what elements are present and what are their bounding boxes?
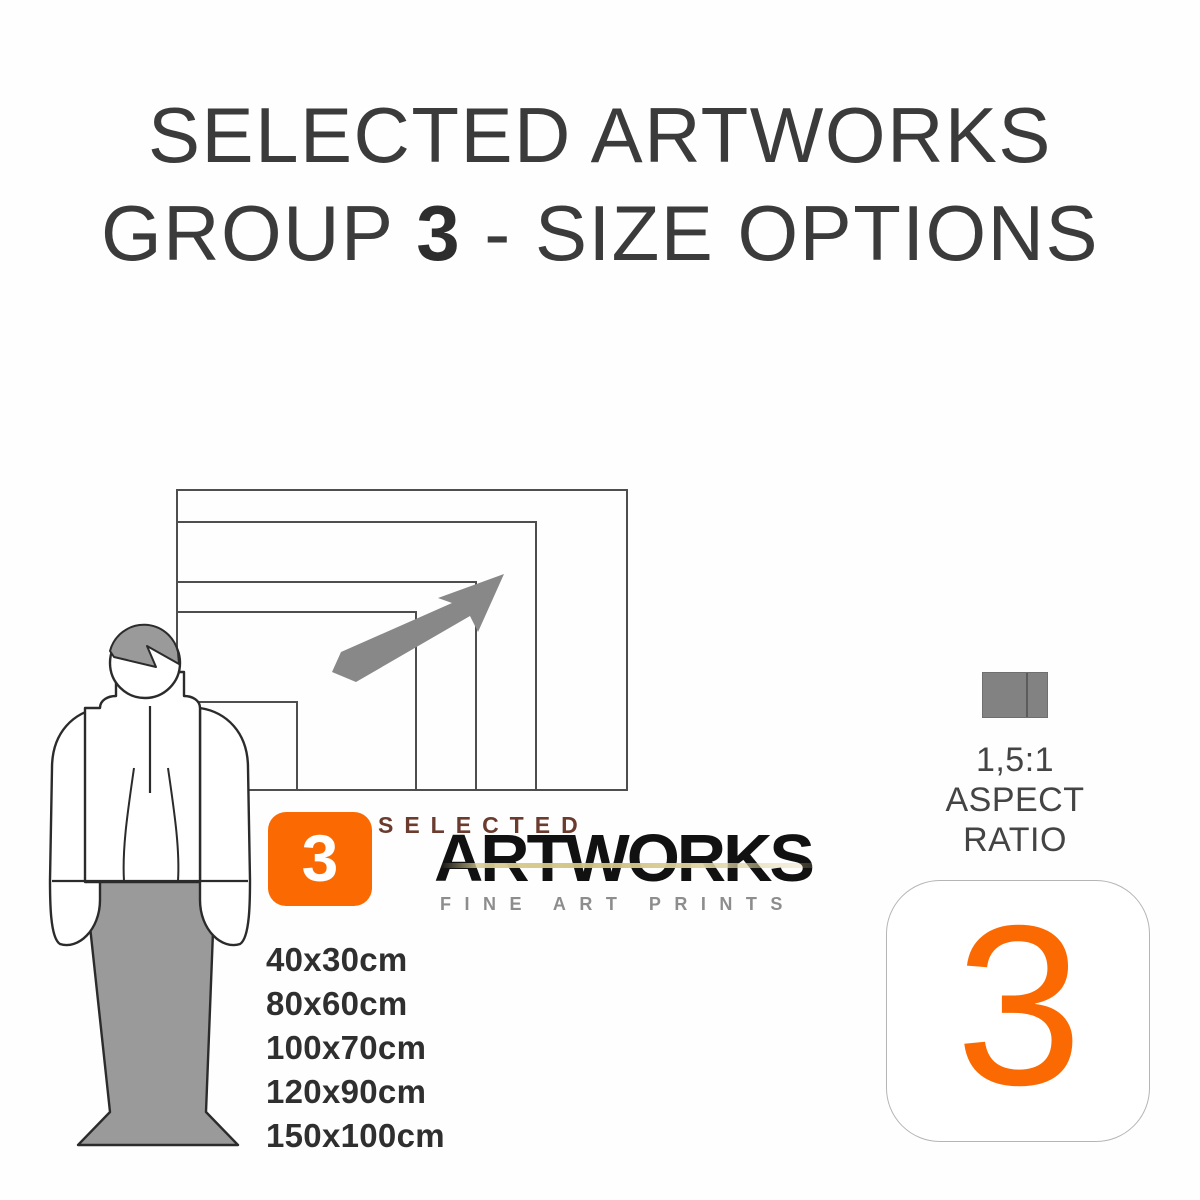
aspect-label-line2: RATIO <box>900 820 1130 860</box>
logo-artworks-wrap: ARTWORKS <box>434 826 834 892</box>
brand-logo: 3 SELECTED ARTWORKS FINE ART PRINTS <box>268 812 828 922</box>
size-options-list: 40x30cm 80x60cm 100x70cm 120x90cm 150x10… <box>266 938 586 1158</box>
size-option: 120x90cm <box>266 1070 586 1114</box>
group-number-value: 3 <box>887 881 1151 1143</box>
page-title: SELECTED ARTWORKS GROUP 3 - SIZE OPTIONS <box>0 96 1200 272</box>
title-group-suffix: - SIZE OPTIONS <box>461 189 1099 277</box>
aspect-label-line1: ASPECT <box>900 780 1130 820</box>
group-number-badge: 3 <box>886 880 1150 1142</box>
logo-group-number: 3 <box>268 812 372 906</box>
scale-figure <box>38 600 278 1160</box>
size-option: 100x70cm <box>266 1026 586 1070</box>
logo-wordmark: SELECTED ARTWORKS FINE ART PRINTS <box>378 810 828 922</box>
aspect-ratio-block: 1,5:1 ASPECT RATIO <box>900 672 1130 860</box>
size-option: 40x30cm <box>266 938 586 982</box>
logo-grunge-streak <box>440 863 812 868</box>
aspect-ratio-divider <box>1026 673 1028 717</box>
title-group-prefix: GROUP <box>101 189 416 277</box>
figure-right-arm <box>200 708 250 945</box>
aspect-ratio-icon <box>982 672 1048 718</box>
size-option: 80x60cm <box>266 982 586 1026</box>
size-increase-arrow <box>330 560 530 690</box>
title-group-number: 3 <box>416 189 461 277</box>
aspect-ratio-value: 1,5:1 <box>900 740 1130 780</box>
title-line-primary: SELECTED ARTWORKS <box>0 96 1200 174</box>
title-line-secondary: GROUP 3 - SIZE OPTIONS <box>0 194 1200 272</box>
figure-torso <box>85 672 200 882</box>
logo-tagline-text: FINE ART PRINTS <box>440 894 796 915</box>
logo-artworks-text: ARTWORKS <box>434 826 834 892</box>
arrow-shape <box>332 574 504 682</box>
size-option: 150x100cm <box>266 1114 586 1158</box>
logo-group-badge: 3 <box>268 812 372 906</box>
